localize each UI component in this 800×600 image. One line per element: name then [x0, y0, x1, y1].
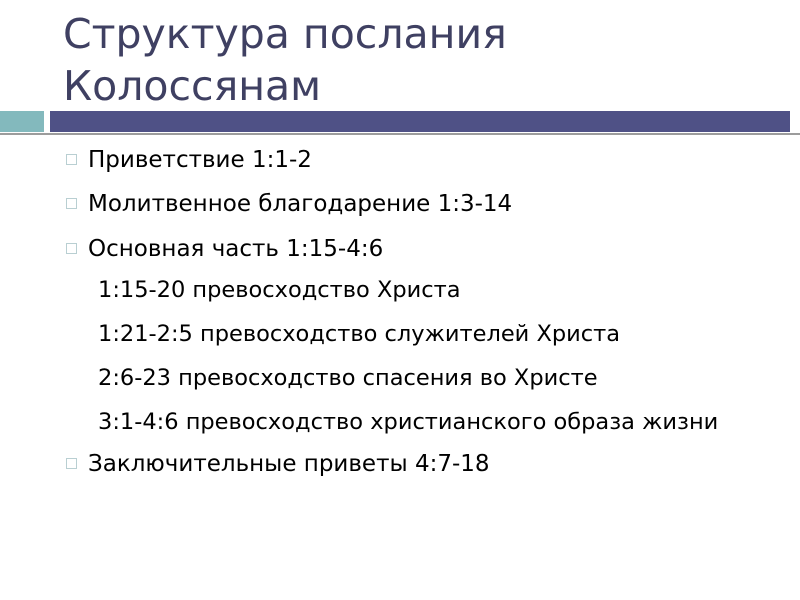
list-item: Приветствие 1:1-2 — [0, 143, 800, 177]
sub-list-item: 1:15-20 превосходство Христа — [0, 273, 800, 307]
list-item-label: Приветствие 1:1-2 — [88, 143, 780, 177]
list-item-label: Основная часть 1:15-4:6 — [88, 232, 780, 266]
sub-list-item-label: 1:21-2:5 превосходство служителей Христа — [98, 321, 620, 347]
list-item: Заключительные приветы 4:7-18 — [0, 447, 800, 481]
list-item-label: Молитвенное благодарение 1:3-14 — [88, 187, 780, 221]
sub-list-item: 2:6-23 превосходство спасения во Христе — [0, 361, 800, 395]
square-bullet-icon — [66, 198, 77, 209]
square-bullet-icon — [66, 154, 77, 165]
accent-square — [0, 111, 44, 132]
page-title: Структура послания Колоссянам — [63, 8, 763, 112]
title-block: Структура послания Колоссянам — [63, 8, 763, 112]
list-item: Молитвенное благодарение 1:3-14 — [0, 187, 800, 221]
list-item-label: Заключительные приветы 4:7-18 — [88, 447, 780, 481]
sub-list-item: 1:21-2:5 превосходство служителей Христа — [0, 317, 800, 351]
content-list: Приветствие 1:1-2 Молитвенное благодарен… — [0, 143, 800, 481]
divider-rule — [0, 133, 800, 135]
sub-list-item-label: 3:1-4:6 превосходство христианского обра… — [98, 409, 718, 435]
square-bullet-icon — [66, 458, 77, 469]
sub-list-item-label: 1:15-20 превосходство Христа — [98, 277, 461, 303]
divider-bar — [50, 111, 790, 132]
title-divider — [0, 111, 800, 137]
square-bullet-icon — [66, 243, 77, 254]
sub-list-item-label: 2:6-23 превосходство спасения во Христе — [98, 365, 598, 391]
sub-list-item: 3:1-4:6 превосходство христианского обра… — [0, 405, 800, 439]
list-item: Основная часть 1:15-4:6 — [0, 232, 800, 266]
slide-canvas: Структура послания Колоссянам Приветстви… — [0, 0, 800, 600]
